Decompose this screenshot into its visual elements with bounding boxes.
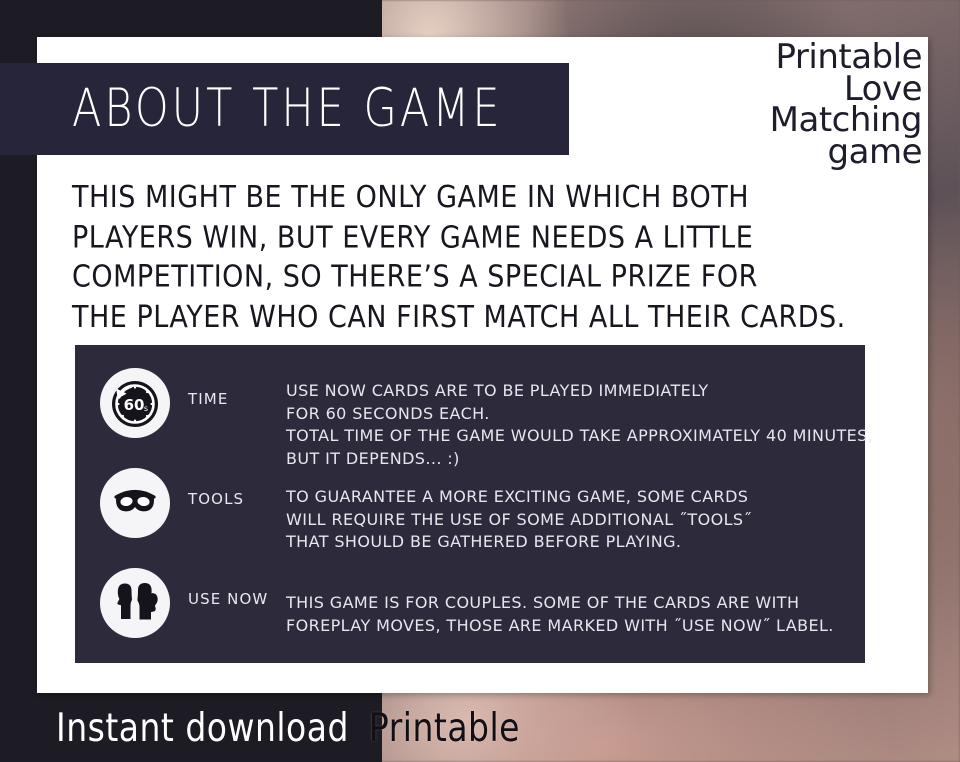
footer-bar: Instant download Printable: [0, 693, 960, 762]
poster-stage: ABOUT THE GAME Printable Love Matching g…: [0, 0, 960, 762]
product-title-line-4: game: [682, 137, 922, 169]
printable-label: Printable: [369, 704, 520, 750]
intro-line-1: THIS MIGHT BE THE ONLY GAME IN WHICH BOT…: [72, 178, 914, 218]
intro-line-3: COMPETITION, SO THERE’S A SPECIAL PRIZE …: [72, 258, 914, 298]
info-tools-line-3: THAT SHOULD BE GATHERED BEFORE PLAYING.: [286, 531, 752, 554]
info-row-body-time: USE NOW CARDS ARE TO BE PLAYED IMMEDIATE…: [286, 380, 873, 471]
info-tools-line-2: WILL REQUIRE THE USE OF SOME ADDITIONAL …: [286, 509, 752, 532]
info-panel: 60 s TIME USE NOW CARDS ARE TO BE PLAYED…: [75, 345, 865, 663]
intro-line-4: THE PLAYER WHO CAN FIRST MATCH ALL THEIR…: [72, 298, 914, 338]
page-title: ABOUT THE GAME: [0, 79, 503, 140]
eye-mask-icon: [100, 468, 170, 538]
intro-paragraph: THIS MIGHT BE THE ONLY GAME IN WHICH BOT…: [72, 178, 914, 338]
frame-left-lower-slab: [0, 155, 37, 762]
section-heading-bar: ABOUT THE GAME: [0, 63, 569, 155]
svg-text:60: 60: [124, 396, 145, 414]
clock-60s-icon: 60 s: [100, 368, 170, 438]
info-row-label-time: TIME: [188, 390, 280, 408]
product-title: Printable Love Matching game: [682, 42, 922, 168]
intro-line-2: PLAYERS WIN, BUT EVERY GAME NEEDS A LITT…: [72, 218, 914, 258]
info-time-line-3: TOTAL TIME OF THE GAME WOULD TAKE APPROX…: [286, 425, 873, 448]
frame-top-left-slab: [0, 0, 382, 37]
info-use-now-line-2: FOREPLAY MOVES, THOSE ARE MARKED WITH ˝U…: [286, 615, 834, 638]
info-row-body-use-now: THIS GAME IS FOR COUPLES. SOME OF THE CA…: [286, 592, 834, 637]
info-row-use-now: USE NOW THIS GAME IS FOR COUPLES. SOME O…: [75, 568, 834, 638]
info-time-line-1: USE NOW CARDS ARE TO BE PLAYED IMMEDIATE…: [286, 380, 873, 403]
instant-download-label: Instant download: [56, 704, 349, 750]
info-row-body-tools: TO GUARANTEE A MORE EXCITING GAME, SOME …: [286, 486, 752, 554]
info-time-line-2: FOR 60 SECONDS EACH.: [286, 403, 873, 426]
frame-top-left-fill: [0, 37, 37, 63]
info-tools-line-1: TO GUARANTEE A MORE EXCITING GAME, SOME …: [286, 486, 752, 509]
info-use-now-line-1: THIS GAME IS FOR COUPLES. SOME OF THE CA…: [286, 592, 834, 615]
svg-text:s: s: [144, 404, 148, 413]
info-row-label-use-now: USE NOW: [188, 590, 280, 608]
info-row-tools: TOOLS TO GUARANTEE A MORE EXCITING GAME,…: [75, 468, 752, 554]
info-row-time: 60 s TIME USE NOW CARDS ARE TO BE PLAYED…: [75, 368, 873, 471]
info-row-label-tools: TOOLS: [188, 490, 280, 508]
couple-silhouette-icon: [100, 568, 170, 638]
